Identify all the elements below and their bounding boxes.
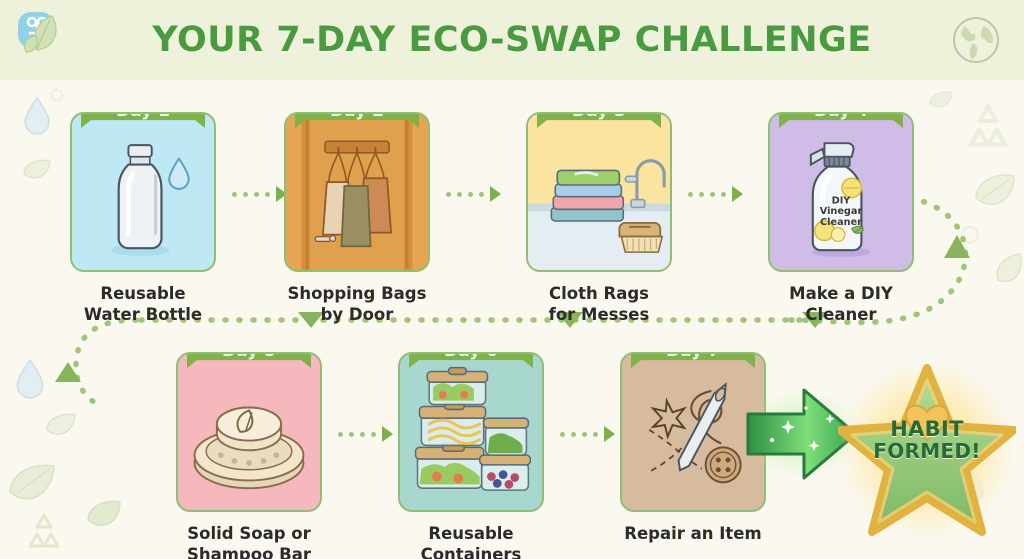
- connector-dot: [457, 192, 462, 197]
- card-caption: Repair an Item: [610, 523, 776, 544]
- water-bottle-icon: [72, 114, 214, 270]
- leaf-icon: [992, 250, 1024, 290]
- caption-line-2: Cleaner: [758, 304, 924, 325]
- water-drop-icon: [22, 96, 52, 136]
- leaf-icon: [6, 462, 58, 510]
- connector-dot: [699, 192, 704, 197]
- connector-dot: [479, 192, 484, 197]
- art-label-line-2: Vinegar: [820, 206, 863, 217]
- arrow-head-icon: [732, 186, 743, 202]
- connector-dot: [446, 192, 451, 197]
- connector-dot: [338, 432, 343, 437]
- card-frame: DIY Vinegar Cleaner Day 4: [768, 112, 914, 272]
- day-label: Day 6: [444, 352, 498, 361]
- leaf-icon: [22, 158, 52, 184]
- caption-line-2: Containers: [388, 544, 554, 559]
- caption-line-1: Cloth Rags: [516, 283, 682, 304]
- card-frame: Day 1: [70, 112, 216, 272]
- step-card-day-6[interactable]: Day 6 Reusable Containers: [388, 352, 554, 559]
- step-card-day-3[interactable]: Day 3 Cloth Rags for Messes: [516, 112, 682, 325]
- recycle-icon: [22, 510, 66, 552]
- connector-dot: [721, 192, 726, 197]
- art-label-line-3: Cleaner: [820, 217, 862, 228]
- globe-icon: [946, 10, 1006, 70]
- caption-line-1: Shopping Bags: [274, 283, 440, 304]
- recycle-icon: [960, 100, 1016, 152]
- card-frame: Day 2: [284, 112, 430, 272]
- spray-bottle-icon: DIY Vinegar Cleaner: [770, 114, 912, 270]
- day-label: Day 3: [572, 112, 626, 121]
- bubble-icon: [50, 88, 64, 102]
- connector-dot: [688, 192, 693, 197]
- connector-dot: [468, 192, 473, 197]
- card-caption: Make a DIY Cleaner: [758, 283, 924, 325]
- connector-dot: [710, 192, 715, 197]
- step-card-day-1[interactable]: Day 1 Reusable Water Bottle: [60, 112, 226, 325]
- food-containers-icon: [400, 354, 542, 510]
- caption-line-1: Repair an Item: [610, 523, 776, 544]
- tote-bags-on-door-icon: [286, 114, 428, 270]
- connector-dot: [232, 192, 237, 197]
- header-band: YOUR 7-DAY ECO-SWAP CHALLENGE: [0, 0, 1024, 80]
- infographic-canvas: YOUR 7-DAY ECO-SWAP CHALLENGE: [0, 0, 1024, 559]
- card-frame: Day 6: [398, 352, 544, 512]
- caption-line-2: by Door: [274, 304, 440, 325]
- card-caption: Shopping Bags by Door: [274, 283, 440, 325]
- day-label: Day 7: [666, 352, 720, 361]
- star-badge-icon[interactable]: [838, 358, 1016, 540]
- caption-line-1: Reusable: [60, 283, 226, 304]
- leaf-icon: [44, 412, 78, 440]
- connector-dot: [560, 432, 565, 437]
- card-caption: Reusable Containers: [388, 523, 554, 559]
- card-caption: Solid Soap or Shampoo Bar: [166, 523, 332, 559]
- caption-line-2: for Messes: [516, 304, 682, 325]
- card-frame: Day 3: [526, 112, 672, 272]
- connector-dot: [593, 432, 598, 437]
- connector-dot: [360, 432, 365, 437]
- step-card-day-4[interactable]: DIY Vinegar Cleaner Day 4 Make a DIY Cle…: [758, 112, 924, 325]
- water-drop-icon: [14, 358, 46, 400]
- leaf-icon: [84, 498, 124, 532]
- day-label: Day 4: [814, 112, 868, 121]
- connector-day6-to-day7: [560, 424, 615, 444]
- connector-day3-to-day4: [688, 184, 743, 204]
- folded-cloth-rags-icon: [528, 114, 670, 270]
- connector-day2-to-day3: [446, 184, 501, 204]
- card-caption: Cloth Rags for Messes: [516, 283, 682, 325]
- caption-line-2: Water Bottle: [60, 304, 226, 325]
- day-label: Day 1: [116, 112, 170, 121]
- card-caption: Reusable Water Bottle: [60, 283, 226, 325]
- leaf-icon: [972, 172, 1018, 214]
- connector-dot: [349, 432, 354, 437]
- card-frame: Day 5: [176, 352, 322, 512]
- caption-line-2: Shampoo Bar: [166, 544, 332, 559]
- connector-dot: [254, 192, 259, 197]
- connector-dot: [582, 432, 587, 437]
- page-title: YOUR 7-DAY ECO-SWAP CHALLENGE: [152, 20, 871, 60]
- arrow-head-icon: [490, 186, 501, 202]
- soap-bar-dish-icon: [178, 354, 320, 510]
- day-label: Day 2: [330, 112, 384, 121]
- day-label: Day 5: [222, 352, 276, 361]
- caption-line-1: Solid Soap or: [166, 523, 332, 544]
- connector-dot: [265, 192, 270, 197]
- bubble-icon: [960, 225, 980, 245]
- leaf-icon: [928, 90, 954, 112]
- connector-dot: [371, 432, 376, 437]
- art-label-line-1: DIY: [832, 195, 852, 206]
- connector-day5-to-day6: [338, 424, 393, 444]
- connector-dot: [243, 192, 248, 197]
- connector-dot: [571, 432, 576, 437]
- caption-line-1: Reusable: [388, 523, 554, 544]
- step-card-day-2[interactable]: Day 2 Shopping Bags by Door: [274, 112, 440, 325]
- step-card-day-5[interactable]: Day 5 Solid Soap or Shampoo Bar: [166, 352, 332, 559]
- caption-line-1: Make a DIY: [758, 283, 924, 304]
- leaf-badge-icon: [8, 6, 72, 68]
